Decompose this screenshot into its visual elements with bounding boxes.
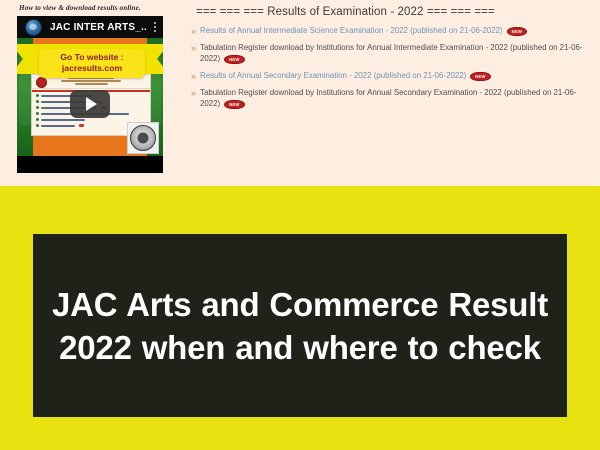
double-chevron-right-icon: »: [187, 87, 200, 99]
list-item[interactable]: » Results of Annual Intermediate Science…: [186, 25, 590, 37]
kebab-dot: [154, 30, 156, 32]
government-emblem-watermark-icon: [130, 125, 156, 151]
status-badge: NEW: [507, 27, 527, 36]
double-chevron-right-icon: »: [187, 25, 200, 37]
line-fill: [41, 125, 75, 127]
bullet-icon: [36, 124, 39, 127]
bullet-icon: [36, 94, 39, 97]
emblem-watermark: [127, 122, 159, 154]
bullet-icon: [36, 100, 39, 103]
headline-box: JAC Arts and Commerce Result 2022 when a…: [33, 234, 567, 417]
result-link-text[interactable]: Tabulation Register download by Institut…: [200, 88, 576, 108]
callout-line-2: jacresults.com: [41, 63, 143, 74]
results-heading: === === === Results of Examination - 202…: [186, 0, 590, 18]
list-item[interactable]: » Results of Annual Secondary Examinatio…: [186, 70, 590, 82]
video-header-bar: JAC INTER ARTS_..: [17, 16, 163, 38]
status-badge: NEW: [224, 100, 244, 109]
bullet-icon: [36, 106, 39, 109]
document-title-line: [61, 80, 120, 82]
double-chevron-right-icon: »: [187, 42, 200, 54]
list-item[interactable]: » Tabulation Register download by Instit…: [186, 42, 590, 65]
status-badge: NEW: [470, 72, 490, 81]
video-controls-bar[interactable]: [17, 156, 163, 173]
status-badge: NEW: [224, 55, 244, 64]
callout-line-1: Go To website :: [41, 52, 143, 63]
channel-avatar-icon: [25, 19, 42, 36]
double-chevron-right-icon: »: [187, 70, 200, 82]
kebab-menu-icon[interactable]: [154, 22, 156, 32]
video-column: How to view & download results online. J…: [17, 0, 163, 175]
bullet-icon: [36, 118, 39, 121]
thumbnail-website-callout: Go To website : jacresults.com: [39, 49, 145, 78]
play-button[interactable]: [70, 90, 110, 118]
video-thumbnail[interactable]: Go To website : jacresults.com: [17, 38, 163, 156]
page-title: JAC Arts and Commerce Result 2022 when a…: [51, 283, 549, 369]
document-title-line: [75, 83, 108, 85]
page-root: How to view & download results online. J…: [0, 0, 600, 450]
website-screenshot-panel: How to view & download results online. J…: [0, 0, 600, 186]
document-title-lines: [58, 77, 124, 86]
document-link-line: [36, 118, 146, 121]
kebab-dot: [154, 22, 156, 24]
result-link-text[interactable]: Tabulation Register download by Institut…: [200, 43, 583, 63]
kebab-dot: [154, 26, 156, 28]
results-list: » Results of Annual Intermediate Science…: [186, 18, 590, 110]
video-player[interactable]: JAC INTER ARTS_.. Go To website : jacres…: [17, 16, 163, 173]
play-icon: [86, 97, 97, 111]
list-item[interactable]: » Tabulation Register download by Instit…: [186, 87, 590, 110]
banner-background: JAC Arts and Commerce Result 2022 when a…: [0, 186, 600, 450]
video-channel-title[interactable]: JAC INTER ARTS_..: [50, 22, 147, 33]
result-link-text[interactable]: Results of Annual Intermediate Science E…: [200, 26, 503, 35]
result-link-text[interactable]: Results of Annual Secondary Examination …: [200, 71, 466, 80]
document-seal-icon: [36, 77, 47, 88]
video-caption: How to view & download results online.: [17, 0, 163, 13]
results-column: === === === Results of Examination - 202…: [186, 0, 590, 115]
line-fill: [41, 119, 85, 121]
new-marker-icon: [79, 124, 84, 127]
bullet-icon: [36, 112, 39, 115]
